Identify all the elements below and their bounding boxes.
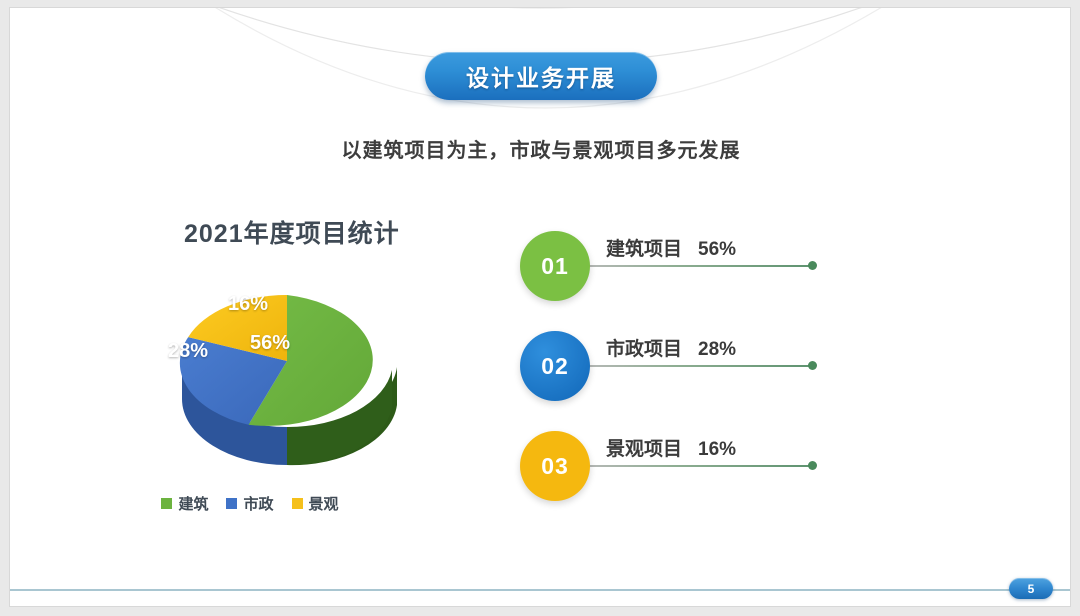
list-item-percent: 16%	[698, 439, 736, 460]
chart-legend: 建筑 市政 景观	[10, 493, 490, 514]
page-number-badge: 5	[1009, 578, 1053, 599]
slide-subtitle: 以建筑项目为主，市政与景观项目多元发展	[10, 134, 1071, 163]
pie-value-label-yellow: 16%	[228, 293, 268, 316]
list-item[interactable]: 02 市政项目28%	[508, 320, 838, 420]
legend-swatch-green	[161, 498, 172, 509]
legend-label: 市政	[243, 493, 273, 514]
slide-canvas: 设计业务开展 以建筑项目为主，市政与景观项目多元发展 2021年度项目统计	[9, 7, 1071, 607]
list-item-label-group: 建筑项目56%	[606, 234, 736, 261]
connector-dot	[808, 261, 817, 270]
decorative-arcs	[10, 8, 1071, 218]
footer-rule	[10, 589, 1071, 591]
list-item[interactable]: 01 建筑项目56%	[508, 220, 838, 320]
legend-item: 市政	[226, 493, 273, 514]
legend-swatch-blue	[226, 498, 237, 509]
connector-line	[580, 265, 812, 267]
connector-dot	[808, 361, 817, 370]
legend-label: 景观	[309, 493, 339, 514]
chart-title: 2021年度项目统计	[184, 214, 400, 250]
list-item-label-group: 景观项目16%	[606, 434, 736, 461]
pie-value-label-blue: 28%	[168, 340, 208, 363]
slide-title-badge: 设计业务开展	[425, 52, 657, 100]
list-item-percent: 28%	[698, 339, 736, 360]
project-breakdown-list: 01 建筑项目56% 02 市政项目28% 03 景观项目16%	[508, 220, 838, 520]
list-item-label: 建筑项目	[606, 239, 682, 260]
connector-line	[580, 465, 812, 467]
legend-swatch-yellow	[292, 498, 303, 509]
legend-item: 建筑	[161, 493, 208, 514]
list-item-label: 景观项目	[606, 439, 682, 460]
list-item-number-badge: 01	[520, 231, 590, 301]
list-item-number-badge: 03	[520, 431, 590, 501]
list-item-number: 01	[541, 253, 569, 280]
pie-chart	[95, 251, 495, 486]
connector-line	[580, 365, 812, 367]
pie-value-label-green: 56%	[250, 332, 290, 355]
pie-chart-svg	[95, 251, 495, 486]
connector-dot	[808, 461, 817, 470]
list-item-number-badge: 02	[520, 331, 590, 401]
list-item-label-group: 市政项目28%	[606, 334, 736, 361]
legend-item: 景观	[292, 493, 339, 514]
list-item-number: 03	[541, 453, 569, 480]
slide-title-text: 设计业务开展	[466, 59, 616, 93]
list-item-label: 市政项目	[606, 339, 682, 360]
page-number-text: 5	[1028, 582, 1035, 596]
list-item-number: 02	[541, 353, 569, 380]
list-item-percent: 56%	[698, 239, 736, 260]
legend-label: 建筑	[178, 493, 208, 514]
list-item[interactable]: 03 景观项目16%	[508, 420, 838, 520]
